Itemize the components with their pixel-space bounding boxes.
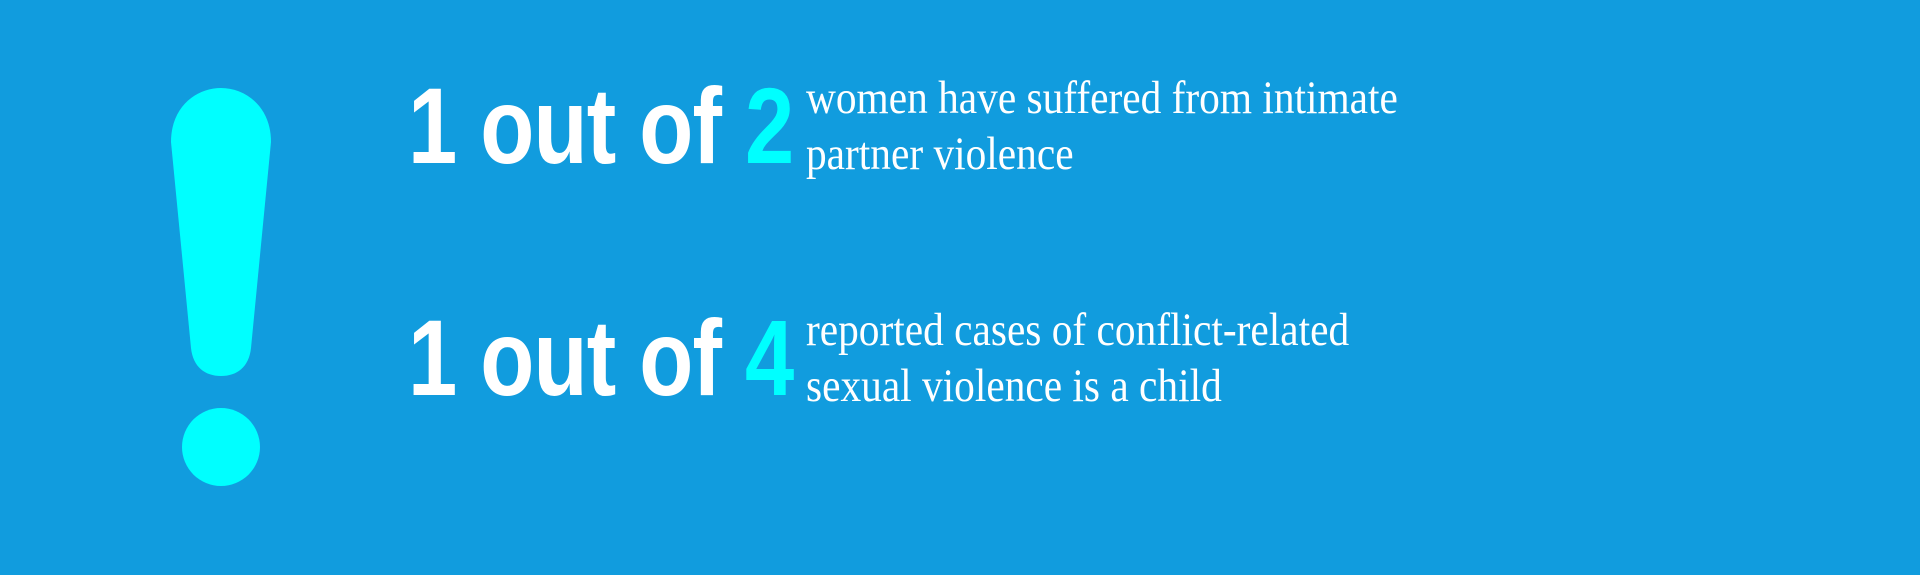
stat-fraction-prefix: 1 out of: [408, 297, 745, 418]
stat-row: 1 out of 4 reported cases of conflict-re…: [408, 302, 1423, 414]
stat-description: women have suffered from intimate partne…: [806, 70, 1398, 182]
stat-fraction: 1 out of 2: [408, 72, 728, 180]
stat-description-line: partner violence: [806, 126, 1398, 182]
stat-numeral: 2: [745, 65, 793, 186]
exclamation-dot-shape: [182, 408, 260, 486]
stat-description: reported cases of conflict-related sexua…: [806, 302, 1349, 414]
stat-description-line: women have suffered from intimate: [806, 70, 1398, 126]
stat-numeral: 4: [745, 297, 793, 418]
exclamation-stem-shape: [171, 88, 271, 376]
stat-description-line: sexual violence is a child: [806, 358, 1349, 414]
stat-description-line: reported cases of conflict-related: [806, 302, 1349, 358]
stat-fraction: 1 out of 4: [408, 304, 728, 412]
stat-fraction-prefix: 1 out of: [408, 65, 745, 186]
exclamation-mark-icon: [150, 80, 300, 500]
infographic-banner: 1 out of 2 women have suffered from inti…: [0, 0, 1920, 575]
stat-row: 1 out of 2 women have suffered from inti…: [408, 70, 1479, 182]
